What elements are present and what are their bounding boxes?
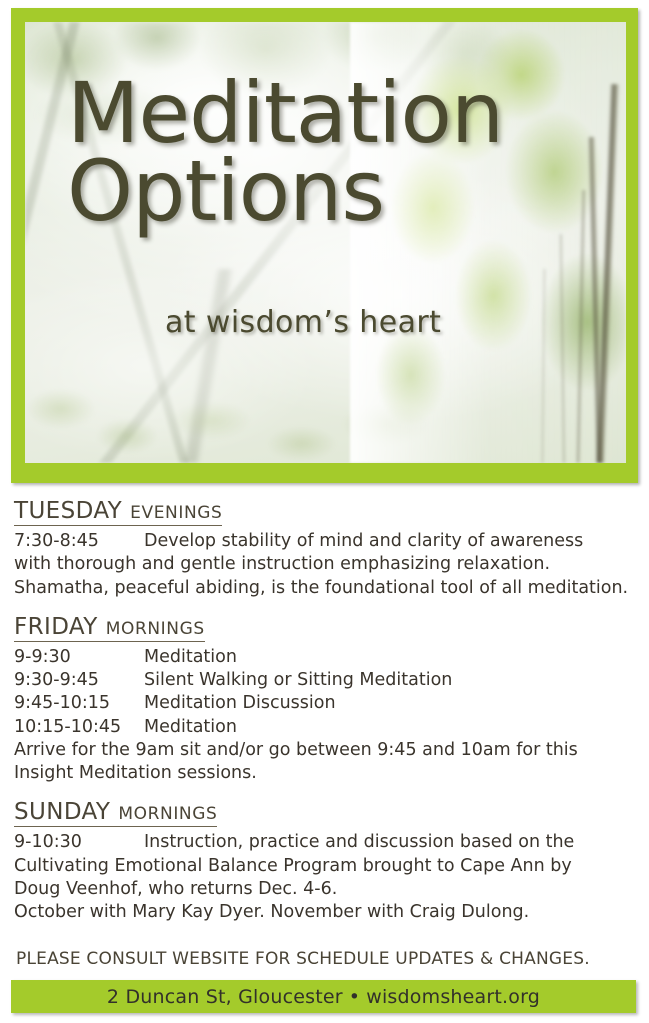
poster-subtitle: at wisdom’s heart: [165, 305, 441, 340]
section-paragraph: 9-10:30Instruction, practice and discuss…: [14, 831, 636, 924]
session-time: 7:30-8:45: [14, 530, 144, 553]
schedule-row: 9-9:30Meditation: [14, 646, 636, 669]
poster-title: Meditation Options: [67, 74, 537, 230]
section-heading: FRIDAYMORNINGS: [14, 614, 205, 642]
session-activity: Meditation: [144, 647, 237, 667]
session-time: 9-10:30: [14, 831, 144, 854]
section-when-label: EVENINGS: [130, 503, 222, 523]
section-day-label: TUESDAY: [14, 498, 122, 524]
paragraph-line: Arrive for the 9am sit and/or go between…: [14, 740, 578, 760]
session-activity: Meditation Discussion: [144, 693, 336, 713]
poster: Meditation Options at wisdom’s heart TUE…: [0, 0, 649, 1023]
paragraph-line: Doug Veenhof, who returns Dec. 4-6.: [14, 879, 337, 899]
footer-website-link[interactable]: wisdomsheart.org: [366, 986, 540, 1008]
paragraph-line: Cultivating Emotional Balance Program br…: [14, 856, 572, 876]
hero-frame: Meditation Options at wisdom’s heart: [11, 8, 638, 483]
hero-photo: Meditation Options at wisdom’s heart: [25, 22, 626, 463]
section-when-label: MORNINGS: [118, 804, 217, 824]
session-activity: Silent Walking or Sitting Meditation: [144, 670, 452, 690]
footer-contact-bar: 2 Duncan St, Gloucester•wisdomsheart.org: [11, 980, 636, 1013]
hero-text-block: Meditation Options at wisdom’s heart: [25, 22, 626, 463]
paragraph-line: with thorough and gentle instruction emp…: [14, 554, 550, 574]
paragraph-line: Instruction, practice and discussion bas…: [144, 832, 574, 852]
section-day-label: FRIDAY: [14, 614, 98, 640]
session-time: 9:45-10:15: [14, 692, 144, 715]
footer-note: PLEASE CONSULT WEBSITE FOR SCHEDULE UPDA…: [16, 949, 590, 969]
schedule: TUESDAYEVENINGS 7:30-8:45Develop stabili…: [14, 498, 636, 938]
session-time: 9-9:30: [14, 646, 144, 669]
paragraph-line: Shamatha, peaceful abiding, is the found…: [14, 578, 628, 598]
section-day-label: SUNDAY: [14, 799, 110, 825]
session-time: 10:15-10:45: [14, 716, 144, 739]
bullet-separator-icon: •: [343, 986, 366, 1008]
footer-contact-text: 2 Duncan St, Gloucester•wisdomsheart.org: [107, 986, 540, 1008]
schedule-row: 10:15-10:45Meditation: [14, 716, 636, 739]
section-heading: TUESDAYEVENINGS: [14, 498, 222, 526]
paragraph-line: Develop stability of mind and clarity of…: [144, 531, 583, 551]
schedule-section-friday: FRIDAYMORNINGS 9-9:30Meditation 9:30-9:4…: [14, 614, 636, 786]
section-paragraph: 7:30-8:45Develop stability of mind and c…: [14, 530, 636, 600]
schedule-row: 9:45-10:15Meditation Discussion: [14, 692, 636, 715]
section-paragraph: Arrive for the 9am sit and/or go between…: [14, 739, 636, 786]
schedule-section-sunday: SUNDAYMORNINGS 9-10:30Instruction, pract…: [14, 799, 636, 924]
section-heading: SUNDAYMORNINGS: [14, 799, 217, 827]
footer-address: 2 Duncan St, Gloucester: [107, 986, 343, 1008]
poster-title-line-2: Options: [67, 152, 537, 230]
section-when-label: MORNINGS: [106, 619, 205, 639]
schedule-section-tuesday: TUESDAYEVENINGS 7:30-8:45Develop stabili…: [14, 498, 636, 600]
schedule-row: 9:30-9:45Silent Walking or Sitting Medit…: [14, 669, 636, 692]
paragraph-line: October with Mary Kay Dyer. November wit…: [14, 902, 529, 922]
session-time: 9:30-9:45: [14, 669, 144, 692]
session-activity: Meditation: [144, 717, 237, 737]
paragraph-line: Insight Meditation sessions.: [14, 763, 257, 783]
